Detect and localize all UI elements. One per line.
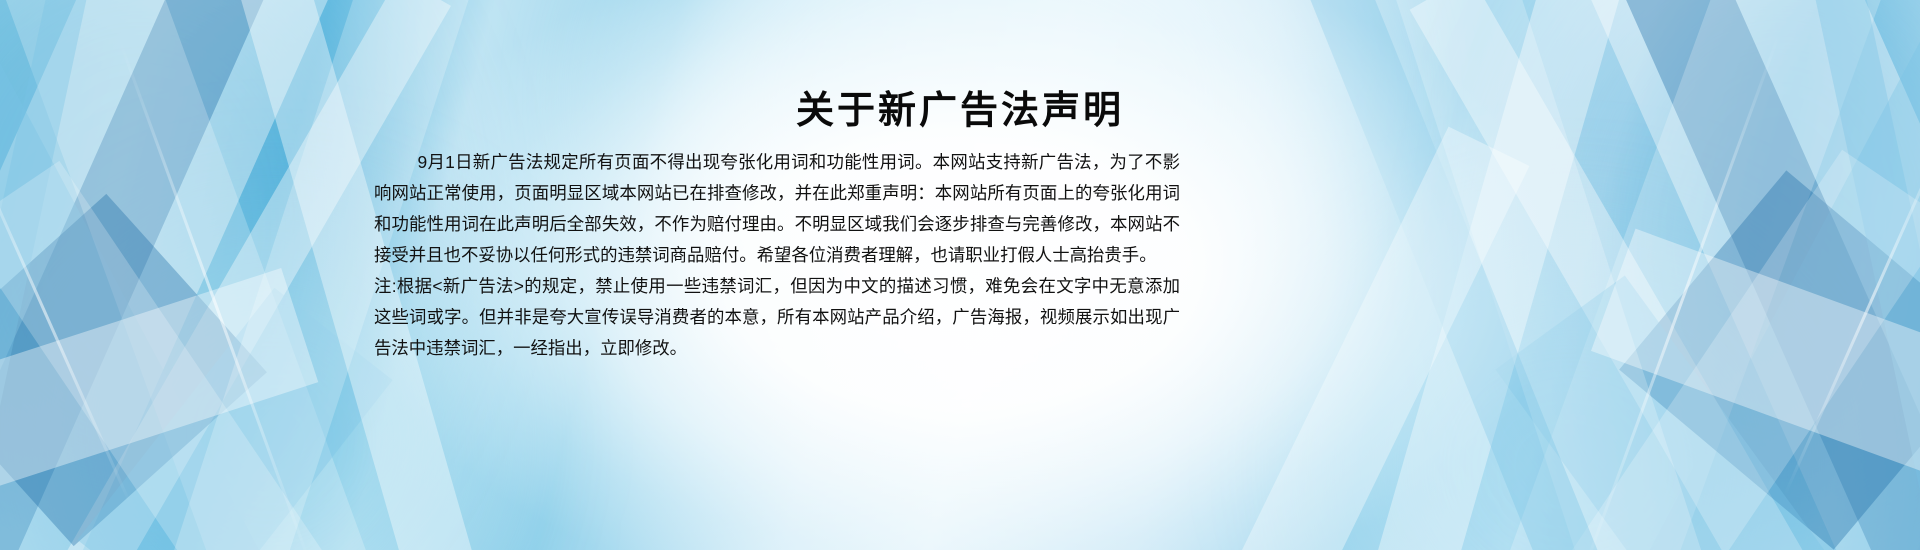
statement-content: 关于新广告法声明 9月1日新广告法规定所有页面不得出现夸张化用词和功能性用词。本… xyxy=(0,0,1920,550)
paragraph-main-statement: 9月1日新广告法规定所有页面不得出现夸张化用词和功能性用词。本网站支持新广告法，… xyxy=(374,147,1180,271)
advertising-law-banner: 关于新广告法声明 9月1日新广告法规定所有页面不得出现夸张化用词和功能性用词。本… xyxy=(0,0,1920,550)
statement-body: 9月1日新广告法规定所有页面不得出现夸张化用词和功能性用词。本网站支持新广告法，… xyxy=(374,147,1180,364)
paragraph-note-statement: 注:根据<新广告法>的规定，禁止使用一些违禁词汇，但因为中文的描述习惯，难免会在… xyxy=(374,271,1180,364)
page-title: 关于新广告法声明 xyxy=(0,88,1920,136)
